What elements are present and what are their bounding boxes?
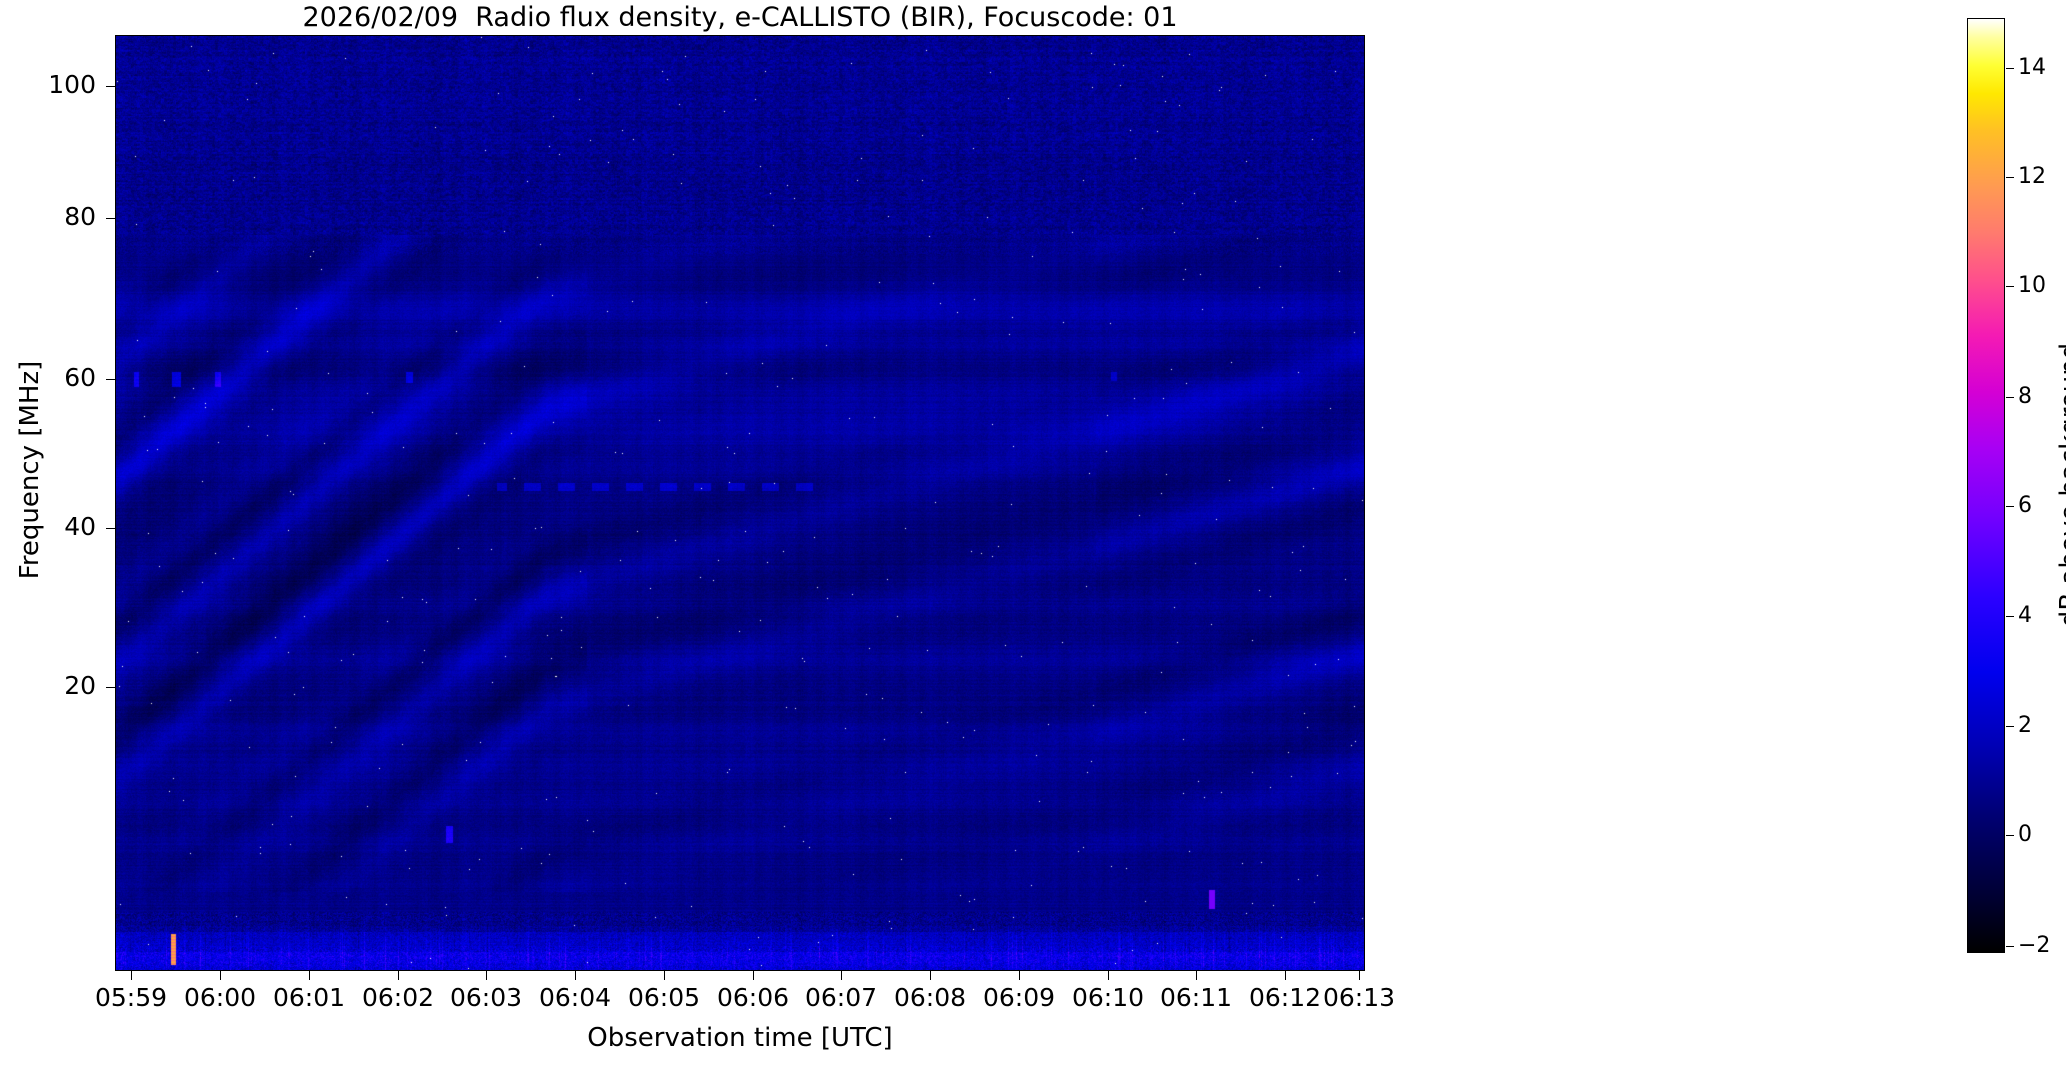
y-tick-mark	[106, 86, 115, 87]
colorbar-tick-label: 2	[2018, 713, 2032, 738]
colorbar-gradient[interactable]	[1967, 18, 2005, 953]
colorbar-tick-label: 6	[2018, 493, 2032, 518]
colorbar-tick-label: 12	[2018, 164, 2046, 189]
x-tick-mark	[1019, 971, 1020, 980]
spectrogram-figure: 2026/02/09 Radio flux density, e-CALLIST…	[0, 0, 2066, 1067]
y-tick-mark	[106, 218, 115, 219]
colorbar-tick-mark	[2006, 506, 2014, 507]
y-axis-label: Frequency [MHz]	[15, 235, 45, 705]
x-axis-label: Observation time [UTC]	[115, 1023, 1365, 1053]
colorbar-tick-label: 10	[2018, 273, 2046, 298]
y-tick-label: 40	[26, 512, 96, 541]
colorbar-tick-label: −2	[2018, 933, 2050, 958]
colorbar-tick-mark	[2006, 616, 2014, 617]
colorbar-tick-mark	[2006, 946, 2014, 947]
y-tick-label: 100	[26, 70, 96, 99]
colorbar-tick-label: 0	[2018, 822, 2032, 847]
colorbar-tick-label: 4	[2018, 603, 2032, 628]
x-tick-mark	[486, 971, 487, 980]
colorbar-tick-label: 14	[2018, 55, 2046, 80]
spectrogram-plot-area[interactable]	[115, 35, 1365, 971]
colorbar-label: dB above background	[2055, 250, 2066, 720]
x-tick-mark	[841, 971, 842, 980]
x-tick-mark	[131, 971, 132, 980]
x-tick-mark	[1108, 971, 1109, 980]
x-tick-mark	[753, 971, 754, 980]
spectrogram-image	[116, 36, 1365, 971]
y-tick-mark	[106, 379, 115, 380]
x-tick-mark	[664, 971, 665, 980]
colorbar-tick-mark	[2006, 177, 2014, 178]
x-tick-mark	[309, 971, 310, 980]
figure-title: 2026/02/09 Radio flux density, e-CALLIST…	[115, 2, 1365, 33]
x-tick-label: 06:13	[1279, 983, 1439, 1012]
colorbar-tick-mark	[2006, 397, 2014, 398]
x-tick-mark	[220, 971, 221, 980]
x-tick-mark	[1359, 971, 1360, 980]
y-tick-label: 60	[26, 363, 96, 392]
colorbar-tick-mark	[2006, 286, 2014, 287]
y-tick-label: 80	[26, 202, 96, 231]
y-tick-mark	[106, 528, 115, 529]
colorbar-tick-mark	[2006, 835, 2014, 836]
x-tick-mark	[930, 971, 931, 980]
colorbar-tick-label: 8	[2018, 384, 2032, 409]
colorbar-tick-mark	[2006, 726, 2014, 727]
y-tick-mark	[106, 687, 115, 688]
x-tick-mark	[575, 971, 576, 980]
x-tick-mark	[1196, 971, 1197, 980]
colorbar-tick-mark	[2006, 68, 2014, 69]
y-tick-label: 20	[26, 671, 96, 700]
x-tick-mark	[1285, 971, 1286, 980]
x-tick-mark	[398, 971, 399, 980]
